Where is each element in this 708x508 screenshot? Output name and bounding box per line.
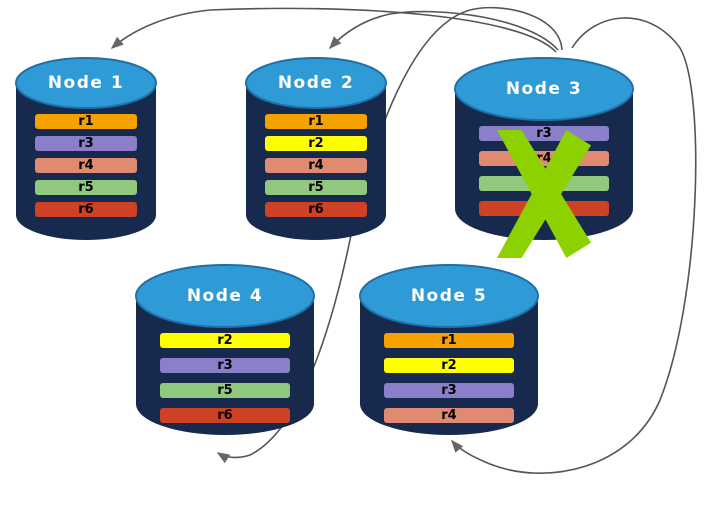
record-chip[interactable]: r2 xyxy=(384,358,514,373)
record-chip[interactable]: r5 xyxy=(265,180,367,195)
replication-arrow xyxy=(112,8,556,52)
node-label: Node 3 xyxy=(455,79,633,99)
record-chip[interactable]: r1 xyxy=(384,333,514,348)
database-node[interactable]: Node 3r3r4r5r6 xyxy=(455,58,633,240)
database-node[interactable]: Node 1r1r3r4r5r6 xyxy=(16,58,156,240)
record-chip[interactable]: r1 xyxy=(265,114,367,129)
record-chip[interactable]: r6 xyxy=(160,408,290,423)
record-chip[interactable]: r6 xyxy=(479,201,609,216)
node-label: Node 4 xyxy=(136,286,314,306)
node-label: Node 5 xyxy=(360,286,538,306)
replication-arrow xyxy=(330,12,558,50)
record-chip[interactable]: r3 xyxy=(479,126,609,141)
record-chip[interactable]: r4 xyxy=(384,408,514,423)
record-chip[interactable]: r3 xyxy=(35,136,137,151)
record-chip[interactable]: r4 xyxy=(265,158,367,173)
node-label: Node 1 xyxy=(16,73,156,93)
record-chip[interactable]: r5 xyxy=(35,180,137,195)
record-list: r1r2r4r5r6 xyxy=(246,114,386,224)
record-chip[interactable]: r4 xyxy=(479,151,609,166)
record-chip[interactable]: r2 xyxy=(265,136,367,151)
record-chip[interactable]: r4 xyxy=(35,158,137,173)
database-node[interactable]: Node 4r2r3r5r6 xyxy=(136,265,314,435)
record-chip[interactable]: r3 xyxy=(160,358,290,373)
record-chip[interactable]: r5 xyxy=(479,176,609,191)
database-node[interactable]: Node 2r1r2r4r5r6 xyxy=(246,58,386,240)
record-chip[interactable]: r2 xyxy=(160,333,290,348)
record-chip[interactable]: r3 xyxy=(384,383,514,398)
database-node[interactable]: Node 5r1r2r3r4 xyxy=(360,265,538,435)
record-chip[interactable]: r6 xyxy=(265,202,367,217)
record-chip[interactable]: r1 xyxy=(35,114,137,129)
node-label: Node 2 xyxy=(246,73,386,93)
record-list: r3r4r5r6 xyxy=(455,126,633,226)
record-chip[interactable]: r6 xyxy=(35,202,137,217)
diagram-canvas: Node 1r1r3r4r5r6Node 2r1r2r4r5r6Node 3r3… xyxy=(0,0,708,508)
record-chip[interactable]: r5 xyxy=(160,383,290,398)
record-list: r2r3r5r6 xyxy=(136,333,314,433)
record-list: r1r3r4r5r6 xyxy=(16,114,156,224)
record-list: r1r2r3r4 xyxy=(360,333,538,433)
